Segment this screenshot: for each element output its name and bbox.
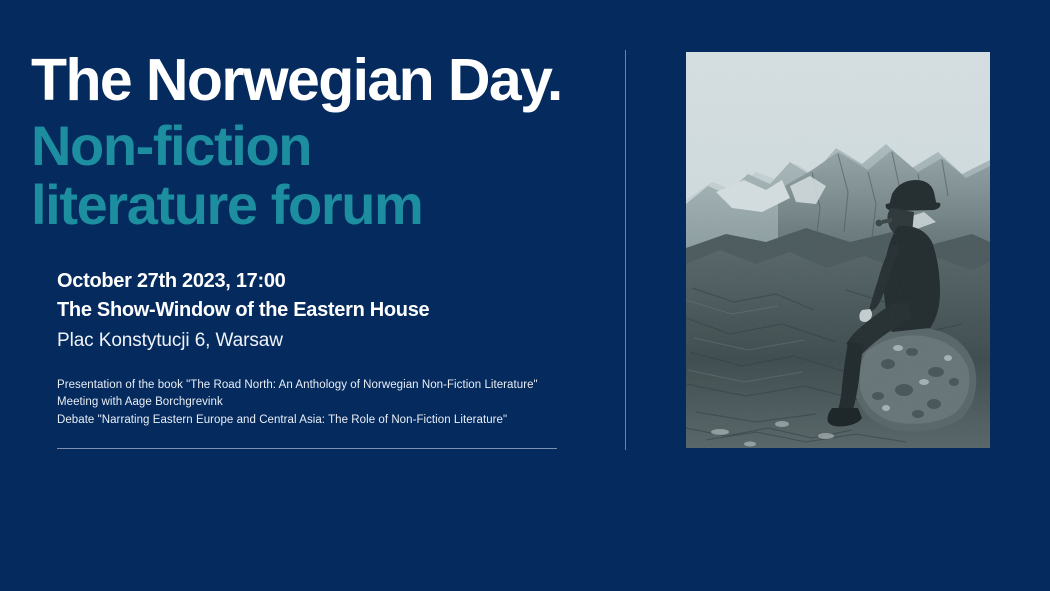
programme-item: Meeting with Aage Borchgrevink <box>57 394 617 411</box>
headline-line-1: The Norwegian Day. <box>31 50 611 111</box>
sponsor-logo-bar: Iceland Liechtenstein Norway grants <box>0 480 1050 580</box>
event-details: October 27th 2023, 17:00 The Show-Window… <box>57 267 597 356</box>
headline-block: The Norwegian Day. Non-fiction literatur… <box>31 50 611 237</box>
horizontal-divider <box>57 448 557 449</box>
poster-canvas: The Norwegian Day. Non-fiction literatur… <box>0 0 1050 591</box>
archival-photo <box>686 52 990 448</box>
event-datetime: October 27th 2023, 17:00 <box>57 267 597 296</box>
headline-line-2: Non-fiction <box>31 115 611 178</box>
vertical-divider <box>625 50 626 450</box>
event-venue: The Show-Window of the Eastern House <box>57 296 597 325</box>
programme-list: Presentation of the book "The Road North… <box>57 377 617 429</box>
programme-item: Debate "Narrating Eastern Europe and Cen… <box>57 412 617 429</box>
headline-line-3: literature forum <box>31 174 611 237</box>
photo-illustration <box>686 52 990 448</box>
programme-item: Presentation of the book "The Road North… <box>57 377 617 394</box>
event-address: Plac Konstytucji 6, Warsaw <box>57 327 597 356</box>
